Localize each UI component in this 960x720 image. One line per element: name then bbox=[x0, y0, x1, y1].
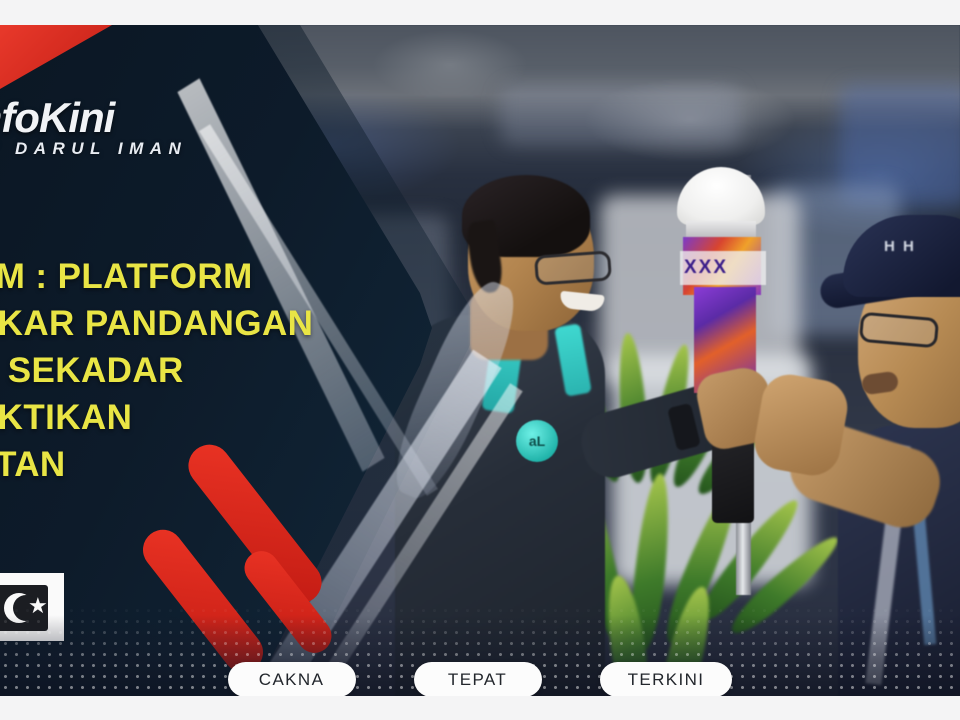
channel-logo-name: InfoKini bbox=[0, 95, 187, 141]
tagline-pill-tepat[interactable]: TEPAT bbox=[414, 662, 542, 696]
headline-line-5: ATAN bbox=[0, 441, 442, 488]
headline: EM : PLATFORM UKAR PANDANGAN N SEKADAR U… bbox=[0, 253, 442, 488]
shirt-badge-glyph: aL bbox=[527, 431, 547, 451]
video-thumbnail: aL XXX H H bbox=[0, 0, 960, 720]
star-icon: ★ bbox=[28, 596, 48, 616]
video-frame: aL XXX H H bbox=[0, 25, 960, 696]
channel-logo-tagline: TV DARUL IMAN bbox=[0, 139, 187, 159]
letterbox-bottom bbox=[0, 696, 960, 720]
subject-left-glasses bbox=[534, 250, 612, 285]
tagline-pill-terkini[interactable]: TERKINI bbox=[600, 662, 733, 696]
background-blur-ceiling bbox=[500, 85, 740, 145]
headline-line-2: UKAR PANDANGAN bbox=[0, 300, 442, 347]
torch-label-text: XXX bbox=[684, 255, 762, 281]
channel-logo: InfoKini TV DARUL IMAN bbox=[0, 95, 187, 159]
headline-line-4: UKTIKAN bbox=[0, 394, 442, 441]
headline-line-3: N SEKADAR bbox=[0, 347, 442, 394]
tagline-pill-cakna[interactable]: CAKNA bbox=[228, 662, 356, 696]
tagline-pill-group: CAKNA TEPAT TERKINI bbox=[0, 662, 960, 696]
letterbox-top bbox=[0, 0, 960, 25]
headline-line-1: EM : PLATFORM bbox=[0, 253, 442, 300]
cap-logo-text: H H bbox=[884, 239, 960, 269]
